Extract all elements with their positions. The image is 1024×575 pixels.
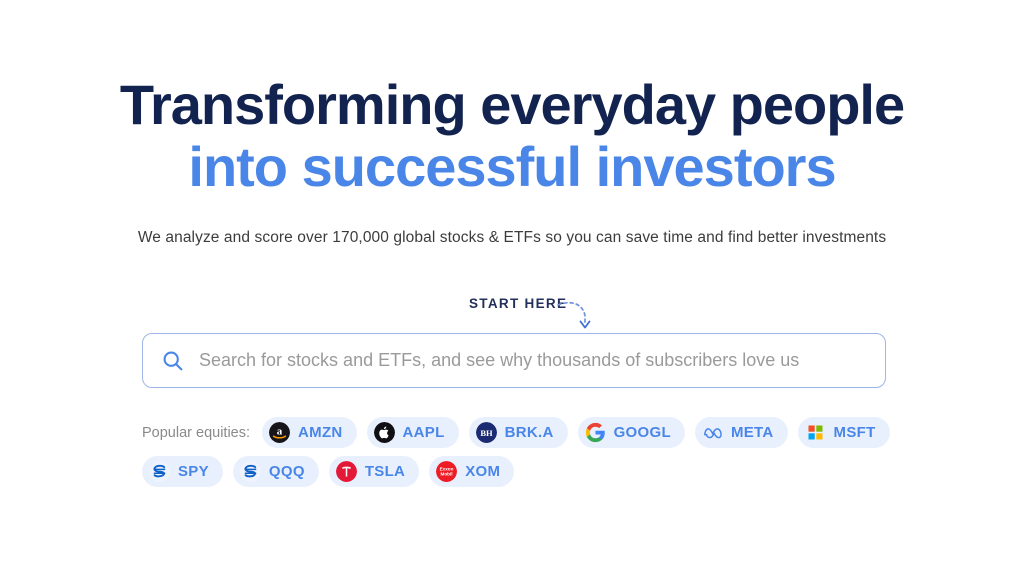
equity-chip-ticker: BRK.A	[505, 424, 554, 441]
equity-chip-spy[interactable]: SPY	[142, 456, 223, 487]
equity-chip-aapl[interactable]: AAPL	[367, 417, 459, 448]
popular-equities-section: Popular equities: a AMZN AAPL	[142, 417, 892, 487]
equity-chip-ticker: AAPL	[403, 424, 445, 441]
page-title: Transforming everyday people into succes…	[0, 77, 1024, 195]
microsoft-logo-icon	[805, 422, 826, 443]
svg-text:BH: BH	[480, 428, 493, 438]
svg-text:a: a	[277, 425, 283, 437]
search-input[interactable]	[199, 350, 867, 371]
spdr-logo-icon	[149, 461, 170, 482]
equity-chip-meta[interactable]: META	[695, 417, 788, 448]
equity-chip-ticker: SPY	[178, 463, 209, 480]
equity-chip-brka[interactable]: BH BRK.A	[469, 417, 568, 448]
invesco-logo-icon	[240, 461, 261, 482]
start-here-label: START HERE	[469, 296, 567, 311]
popular-equities-label: Popular equities:	[142, 418, 250, 448]
equity-chip-tsla[interactable]: TSLA	[329, 456, 419, 487]
equity-chip-xom[interactable]: Exxon Mobil XOM	[429, 456, 514, 487]
equity-chip-ticker: QQQ	[269, 463, 305, 480]
start-here-annotation: START HERE	[0, 296, 1024, 336]
landing-page-hero: Transforming everyday people into succes…	[0, 0, 1024, 575]
hero-subtitle: We analyze and score over 170,000 global…	[0, 229, 1024, 247]
tesla-logo-icon	[336, 461, 357, 482]
equity-chip-ticker: TSLA	[365, 463, 405, 480]
google-logo-icon	[585, 422, 606, 443]
apple-logo-icon	[374, 422, 395, 443]
equity-chip-ticker: META	[731, 424, 774, 441]
headline-line-2: into successful investors	[0, 139, 1024, 195]
svg-text:Mobil: Mobil	[441, 472, 453, 477]
equity-chip-googl[interactable]: GOOGL	[578, 417, 685, 448]
equity-chip-ticker: GOOGL	[614, 424, 671, 441]
search-bar[interactable]	[142, 333, 886, 388]
equity-chip-amzn[interactable]: a AMZN	[262, 417, 357, 448]
headline-line-1: Transforming everyday people	[0, 77, 1024, 133]
meta-logo-icon	[702, 422, 723, 443]
equity-chip-msft[interactable]: MSFT	[798, 417, 890, 448]
equity-chip-ticker: MSFT	[834, 424, 876, 441]
search-icon	[161, 349, 185, 373]
equity-chip-qqq[interactable]: QQQ	[233, 456, 319, 487]
exxon-mobil-logo-icon: Exxon Mobil	[436, 461, 457, 482]
berkshire-hathaway-logo-icon: BH	[476, 422, 497, 443]
amazon-logo-icon: a	[269, 422, 290, 443]
equity-chip-ticker: AMZN	[298, 424, 343, 441]
equity-chip-ticker: XOM	[465, 463, 500, 480]
